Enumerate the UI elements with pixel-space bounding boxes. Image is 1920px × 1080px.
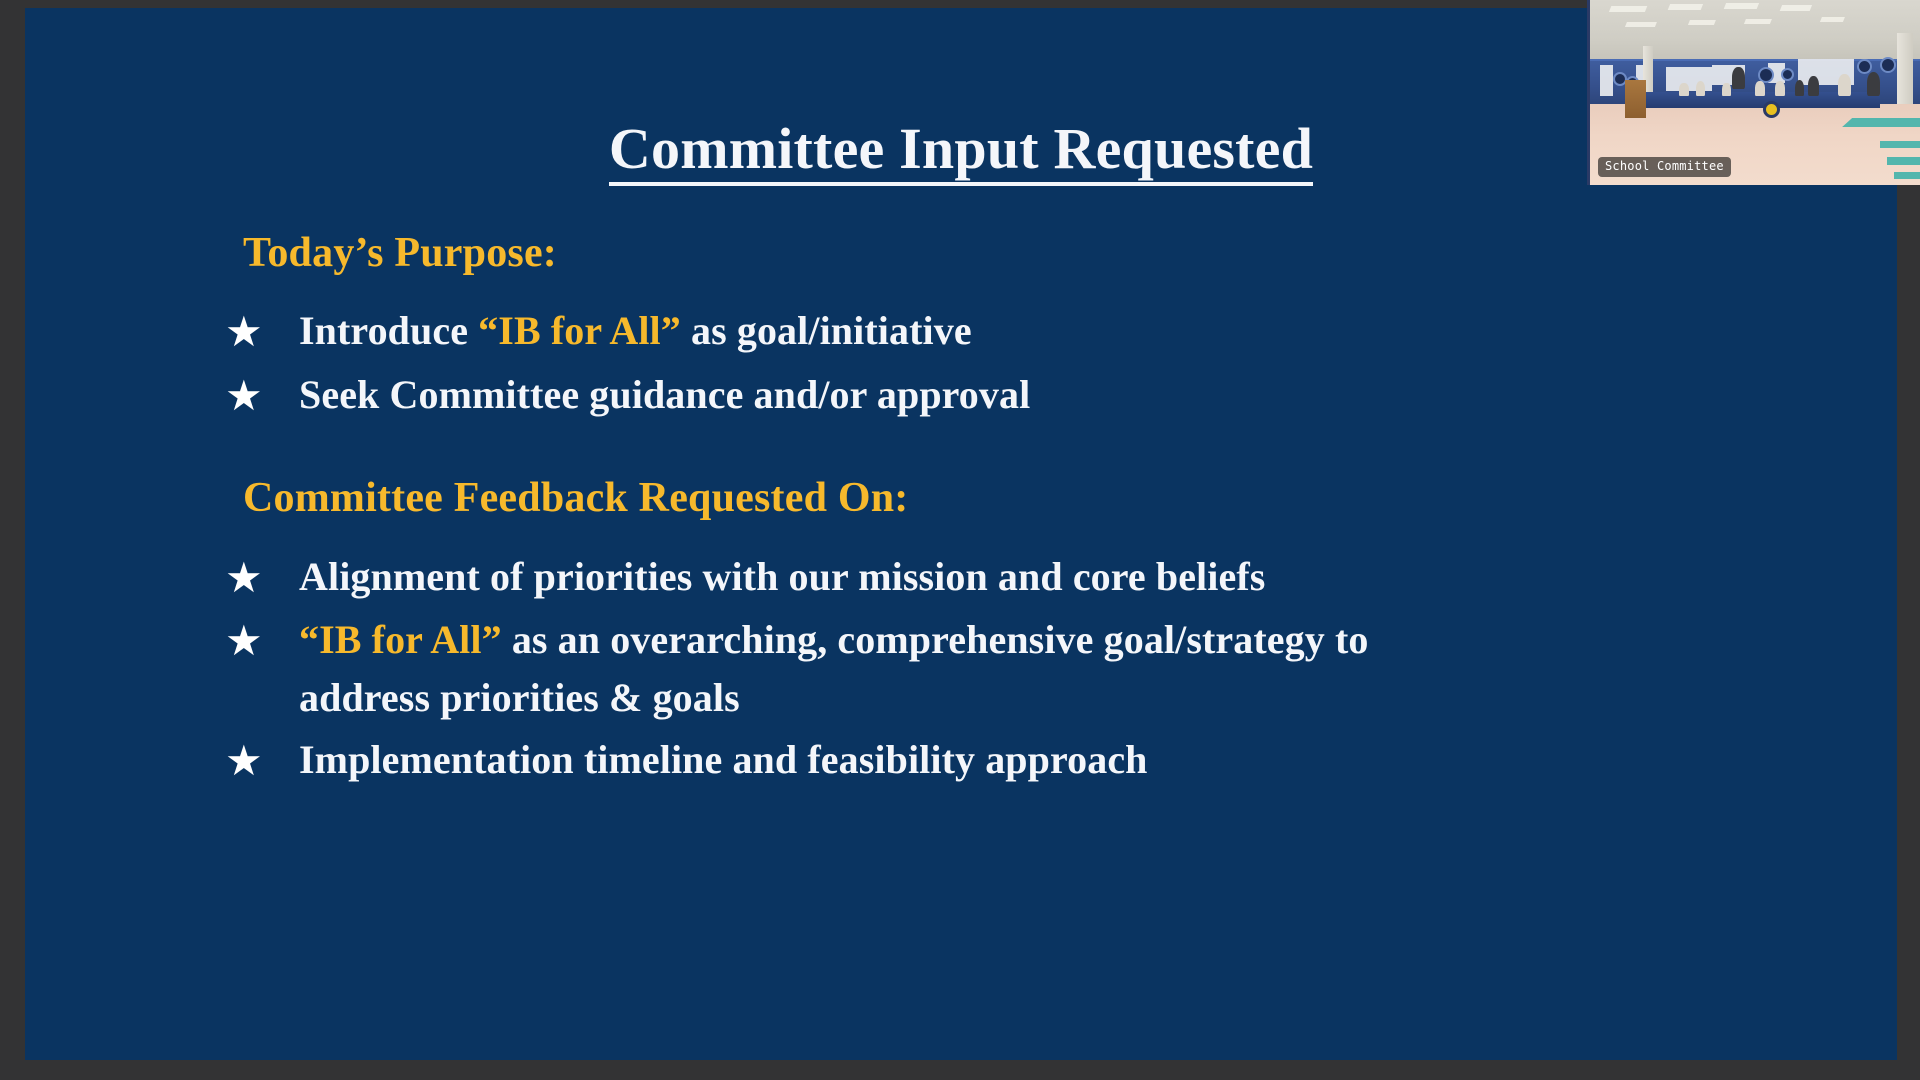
list-item: ★ Alignment of priorities with our missi… <box>221 548 1861 608</box>
ceiling-light <box>1608 6 1647 12</box>
slide-body: Today’s Purpose: ★ Introduce “IB for All… <box>221 230 1861 795</box>
person-presenting <box>1732 67 1745 89</box>
bullet-text-part: Introduce <box>299 308 478 353</box>
person <box>1696 81 1706 96</box>
list-item-text: Seek Committee guidance and/or approval <box>299 366 1459 424</box>
ceiling-light <box>1724 3 1759 9</box>
bullet-list-committee-feedback: ★ Alignment of priorities with our missi… <box>221 548 1861 791</box>
section-spacer <box>221 429 1861 475</box>
person <box>1722 83 1731 96</box>
person <box>1795 80 1805 97</box>
floor-stripe <box>1887 157 1920 164</box>
list-item-text: Alignment of priorities with our mission… <box>299 548 1459 606</box>
screen-capture: Committee Input Requested Today’s Purpos… <box>0 0 1920 1080</box>
bullet-text-part: Implementation timeline and feasibility … <box>299 737 1148 782</box>
ceiling-light <box>1668 4 1703 10</box>
bullet-text-part: Alignment of priorities with our mission… <box>299 554 1265 599</box>
bullet-text-highlight: “IB for All” <box>299 617 502 662</box>
section-heading-committee-feedback: Committee Feedback Requested On: <box>243 475 1861 521</box>
spotlight-badge-icon <box>1763 101 1780 118</box>
slide-section-todays-purpose: Today’s Purpose: ★ Introduce “IB for All… <box>221 230 1861 425</box>
list-item-text: “IB for All” as an overarching, comprehe… <box>299 611 1459 727</box>
list-item: ★ Seek Committee guidance and/or approva… <box>221 366 1861 426</box>
list-item: ★ Implementation timeline and feasibilit… <box>221 731 1861 791</box>
star-bullet-icon: ★ <box>221 731 299 791</box>
video-thumbnail[interactable]: School Committee <box>1587 0 1920 185</box>
ceiling-light <box>1688 20 1716 25</box>
section-heading-todays-purpose: Today’s Purpose: <box>243 230 1861 276</box>
video-thumbnail-label: School Committee <box>1598 157 1731 177</box>
ceiling-light <box>1820 17 1845 22</box>
floor-stripe <box>1842 118 1920 127</box>
slide-section-committee-feedback: Committee Feedback Requested On: ★ Align… <box>221 475 1861 790</box>
person <box>1775 81 1785 96</box>
wall-panel <box>1600 65 1613 96</box>
person <box>1808 76 1820 96</box>
list-item-text: Implementation timeline and feasibility … <box>299 731 1459 789</box>
ceiling-light <box>1625 22 1657 27</box>
page-title-text: Committee Input Requested <box>609 120 1313 186</box>
wall-panel <box>1666 67 1712 91</box>
bullet-text-highlight: “IB for All” <box>478 308 681 353</box>
star-bullet-icon: ★ <box>221 302 299 362</box>
bullet-list-todays-purpose: ★ Introduce “IB for All” as goal/initiat… <box>221 302 1861 425</box>
list-item: ★ “IB for All” as an overarching, compre… <box>221 611 1861 727</box>
school-seal-icon <box>1758 67 1774 83</box>
list-item-text: Introduce “IB for All” as goal/initiativ… <box>299 302 1459 360</box>
star-bullet-icon: ★ <box>221 611 299 671</box>
podium <box>1625 80 1646 119</box>
floor-stripe <box>1880 141 1920 148</box>
person <box>1867 72 1880 96</box>
star-bullet-icon: ★ <box>221 366 299 426</box>
star-bullet-icon: ★ <box>221 548 299 608</box>
bullet-text-part: as goal/initiative <box>681 308 972 353</box>
list-item: ★ Introduce “IB for All” as goal/initiat… <box>221 302 1861 362</box>
floor-stripe <box>1894 172 1920 179</box>
bullet-text-part: Seek Committee guidance and/or approval <box>299 372 1030 417</box>
person <box>1838 74 1851 96</box>
pillar <box>1897 33 1914 111</box>
person <box>1755 81 1765 96</box>
person <box>1679 83 1689 96</box>
ceiling-light <box>1780 5 1812 11</box>
ceiling-light <box>1744 19 1772 24</box>
